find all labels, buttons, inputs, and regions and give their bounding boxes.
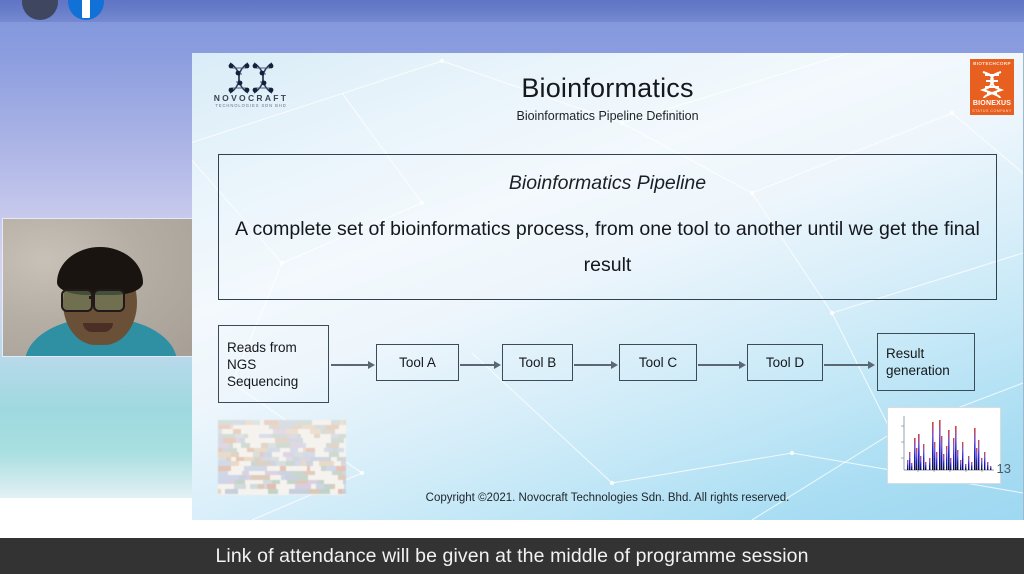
pause-icon bbox=[82, 0, 90, 18]
slide-subtitle: Bioinformatics Pipeline Definition bbox=[192, 109, 1023, 123]
pipeline-node-tool-c[interactable]: Tool C bbox=[619, 344, 697, 381]
arrow-head-icon bbox=[611, 361, 618, 369]
meeting-stage: NOVOCRAFT TECHNOLOGIES SDN BHD BIOTECHCO… bbox=[0, 0, 1024, 538]
pipeline-arrow-4 bbox=[698, 360, 746, 370]
screen-share-window: NOVOCRAFT TECHNOLOGIES SDN BHD BIOTECHCO… bbox=[0, 0, 1024, 574]
definition-heading: Bioinformatics Pipeline bbox=[219, 172, 996, 195]
bionexus-logo-top-text: BIOTECHCORP bbox=[970, 61, 1014, 66]
pipeline-node-label: Tool C bbox=[639, 354, 677, 371]
sequence-alignment-figure bbox=[218, 420, 346, 495]
arrow-shaft bbox=[460, 364, 494, 365]
slide-number: 13 bbox=[997, 461, 1011, 476]
pipeline-node-label: Result generation bbox=[886, 345, 974, 379]
meeting-toolbar[interactable] bbox=[0, 0, 1024, 22]
arrow-shaft bbox=[331, 364, 368, 365]
presenter-webcam-tile[interactable] bbox=[3, 219, 192, 356]
pipeline-arrow-5 bbox=[824, 360, 875, 370]
pipeline-node-label: Reads from NGS Sequencing bbox=[227, 339, 328, 390]
pipeline-arrow-2 bbox=[460, 360, 501, 370]
definition-body: A complete set of bioinformatics process… bbox=[235, 211, 980, 283]
pipeline-node-result[interactable]: Result generation bbox=[877, 333, 975, 391]
arrow-head-icon bbox=[868, 361, 875, 369]
participant-avatar-icon[interactable] bbox=[22, 0, 58, 20]
slide-title: Bioinformatics bbox=[192, 73, 1023, 104]
arrow-shaft bbox=[824, 364, 868, 365]
webcam-person-glasses-left bbox=[61, 289, 93, 312]
arrow-shaft bbox=[698, 364, 739, 365]
pipeline-node-label: Tool D bbox=[766, 354, 804, 371]
arrow-head-icon bbox=[739, 361, 746, 369]
pipeline-node-label: Tool A bbox=[399, 354, 436, 371]
arrow-head-icon bbox=[494, 361, 501, 369]
pipeline-node-tool-a[interactable]: Tool A bbox=[376, 344, 459, 381]
caption-bar: Link of attendance will be given at the … bbox=[0, 538, 1024, 574]
slide-copyright-footer: Copyright ©2021. Novocraft Technologies … bbox=[192, 492, 1023, 504]
caption-text: Link of attendance will be given at the … bbox=[215, 545, 808, 568]
pipeline-node-tool-d[interactable]: Tool D bbox=[747, 344, 823, 381]
pipeline-flow-diagram: Reads from NGS Sequencing Tool A Tool B bbox=[192, 325, 1023, 409]
pipeline-node-tool-b[interactable]: Tool B bbox=[502, 344, 573, 381]
pipeline-arrow-3 bbox=[574, 360, 618, 370]
shared-presentation-slide[interactable]: NOVOCRAFT TECHNOLOGIES SDN BHD BIOTECHCO… bbox=[192, 53, 1024, 520]
pipeline-arrow-1 bbox=[331, 360, 375, 370]
arrow-head-icon bbox=[368, 361, 375, 369]
webcam-person-glasses-bridge bbox=[89, 296, 95, 299]
webcam-person-glasses-right bbox=[93, 289, 125, 312]
webcam-person-mouth bbox=[83, 323, 113, 332]
arrow-shaft bbox=[574, 364, 611, 365]
pipeline-node-label: Tool B bbox=[519, 354, 557, 371]
definition-panel: Bioinformatics Pipeline A complete set o… bbox=[218, 154, 997, 300]
pipeline-node-reads[interactable]: Reads from NGS Sequencing bbox=[218, 325, 329, 403]
chromatogram-figure bbox=[887, 407, 1001, 484]
spectrum-plot bbox=[888, 408, 1000, 483]
